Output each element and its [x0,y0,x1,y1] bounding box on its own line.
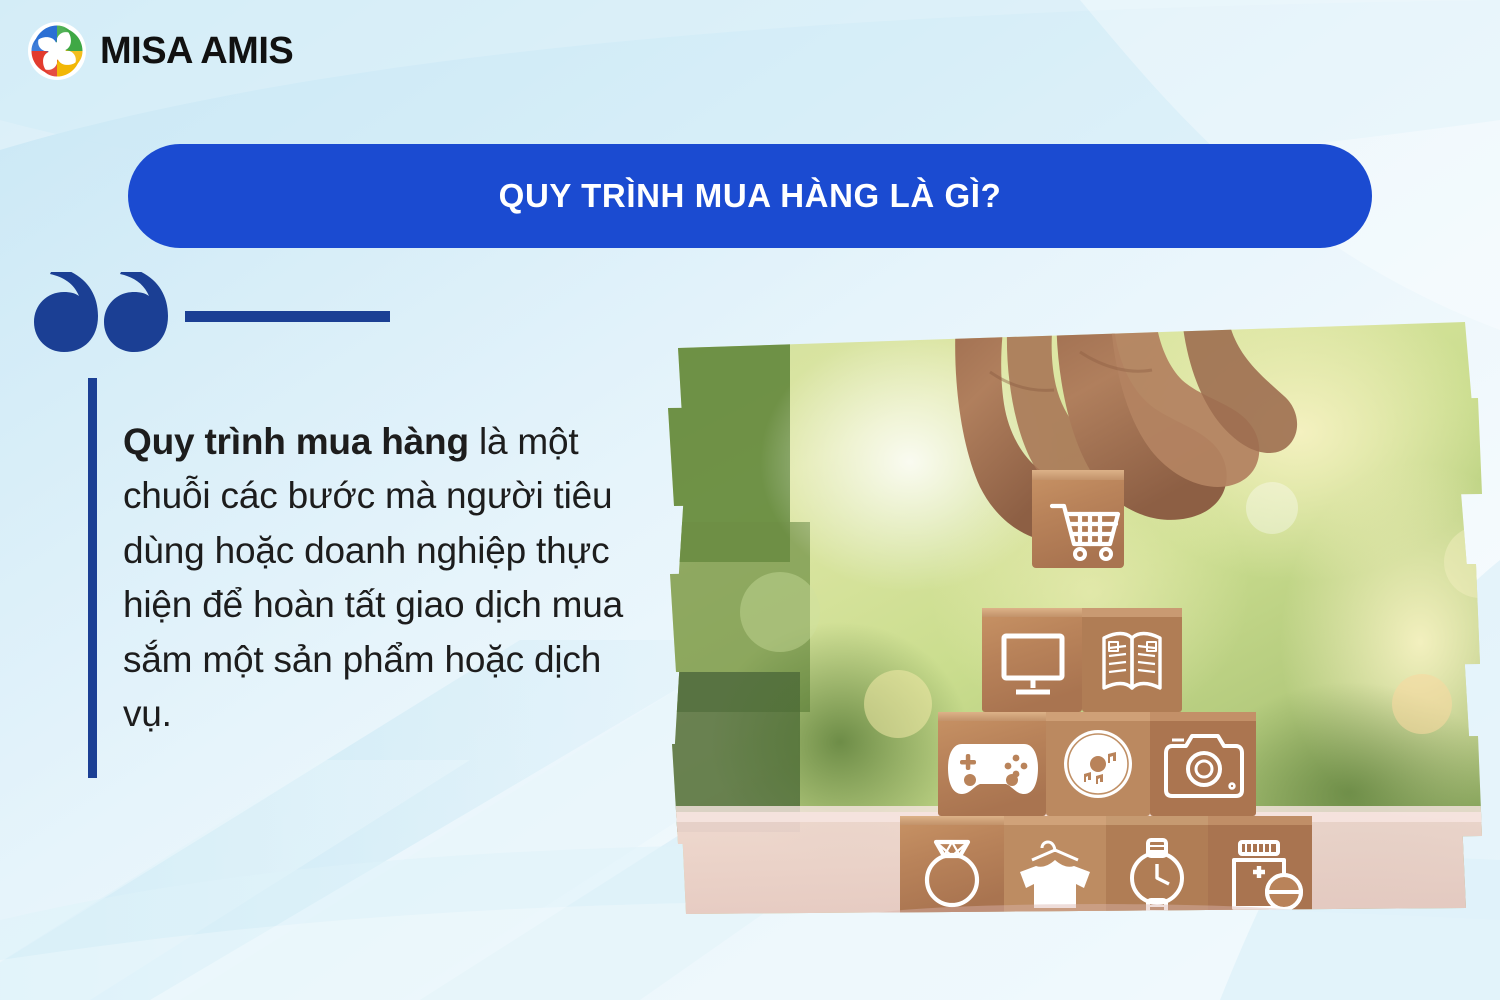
misa-swirl-logo-icon [28,22,86,80]
quote-paragraph: Quy trình mua hàng là một chuỗi các bước… [123,415,633,741]
page-title: QUY TRÌNH MUA HÀNG LÀ GÌ? [499,177,1002,215]
title-banner: QUY TRÌNH MUA HÀNG LÀ GÌ? [128,144,1372,248]
infographic-canvas: MISA AMIS QUY TRÌNH MUA HÀNG LÀ GÌ? Quy … [0,0,1500,1000]
wooden-blocks-photo [660,312,1485,932]
double-quote-icon [28,272,168,352]
quote-body-text: là một chuỗi các bước mà người tiêu dùng… [123,421,623,734]
quote-accent-bar [88,378,97,778]
brand-name: MISA AMIS [100,30,293,73]
quote-block: Quy trình mua hàng là một chuỗi các bước… [88,378,633,778]
quote-lead-bold: Quy trình mua hàng [123,421,469,462]
quote-divider-rule [185,311,390,322]
brand-logo[interactable]: MISA AMIS [28,22,293,80]
